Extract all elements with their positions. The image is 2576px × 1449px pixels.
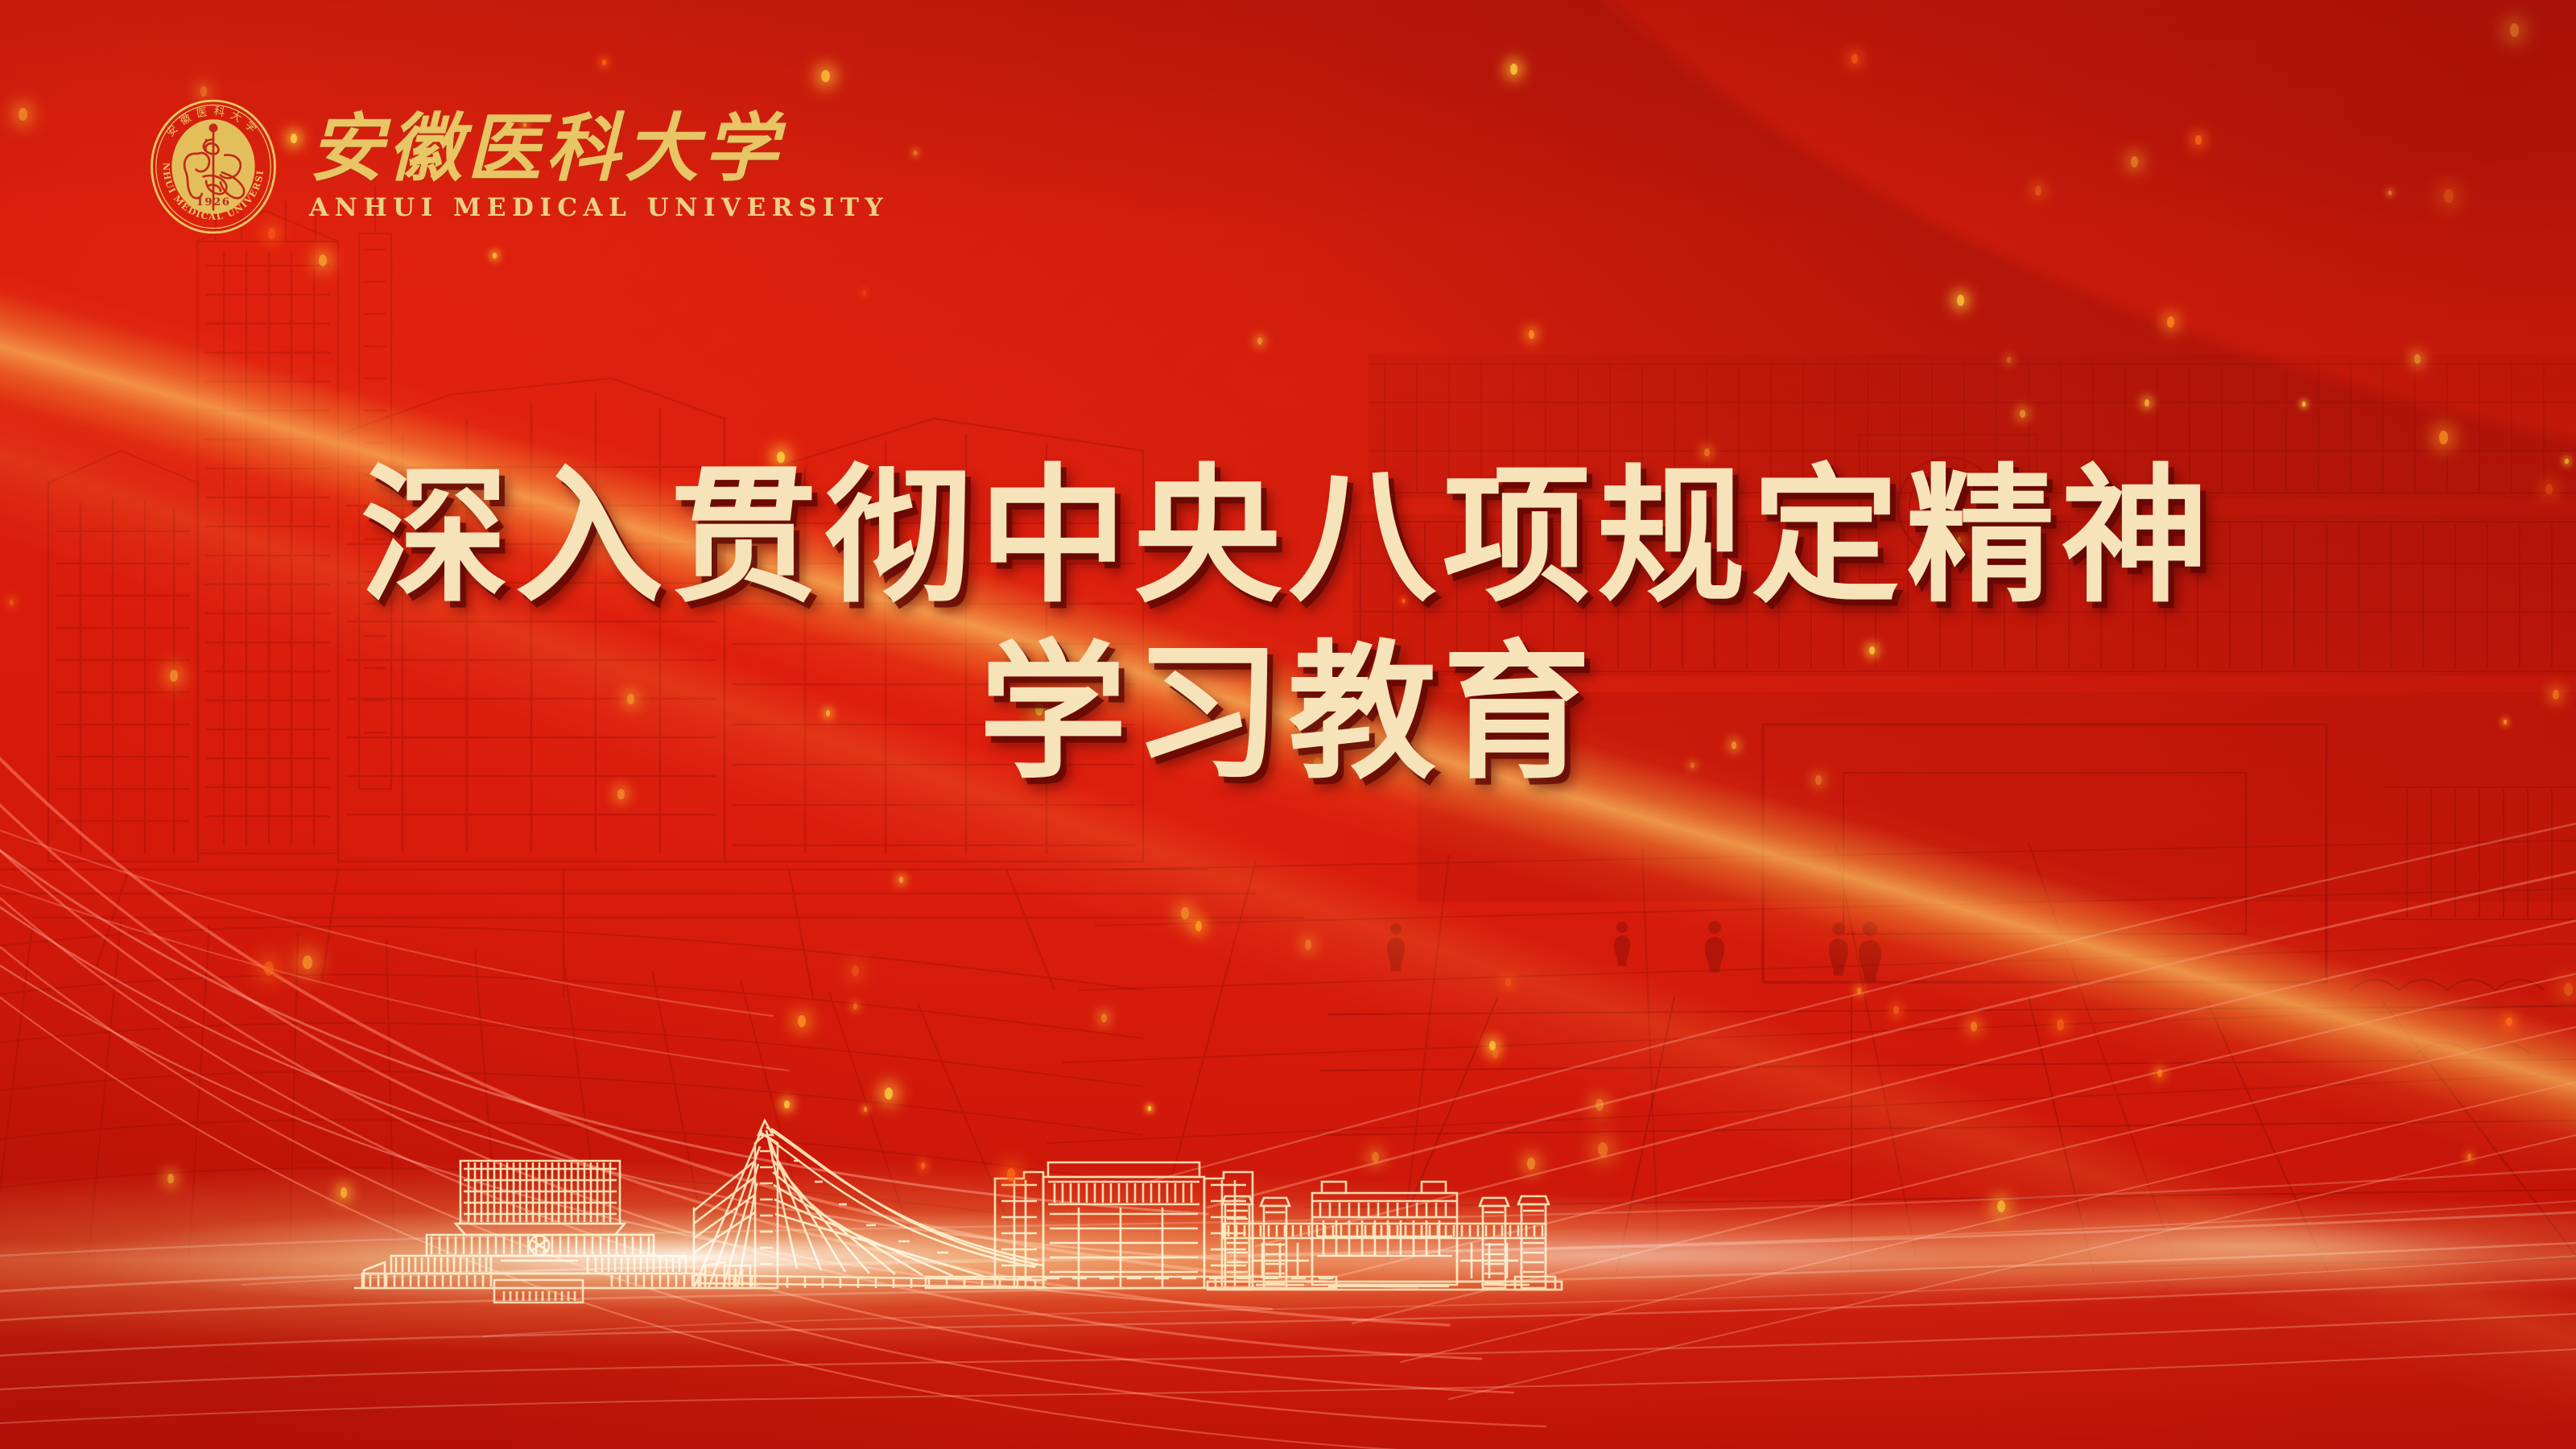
glow-particle [341, 1187, 347, 1197]
glow-particle [899, 877, 903, 883]
glow-particle [852, 965, 860, 977]
skyline-campus-gate-portico [1207, 1182, 1562, 1290]
glow-particle [1857, 988, 1861, 994]
title-line-2: 学习教育 [0, 627, 2576, 799]
glow-particle [2467, 1154, 2471, 1159]
glow-particle [863, 291, 866, 295]
glow-particle [19, 108, 27, 121]
glow-particle [1148, 1106, 1151, 1111]
glow-particle [2510, 23, 2519, 37]
university-name-block: 安徽医科大学 ANHUI MEDICAL UNIVERSITY [309, 111, 889, 222]
glow-particle [303, 956, 312, 970]
glow-particle [1305, 939, 1311, 950]
glow-particle [1527, 1158, 1535, 1170]
glow-particle [914, 151, 917, 155]
glow-particle [2145, 399, 2149, 407]
glow-particle [1101, 1013, 1107, 1022]
glow-particle [319, 254, 327, 266]
glow-particle [798, 1015, 806, 1027]
glow-particle [921, 1162, 925, 1169]
skyline-library-building [354, 1161, 765, 1302]
university-chinese-name: 安徽医科大学 [309, 111, 889, 187]
anhui-medical-university-emblem-icon: 安徽医科大学 ANHUI MEDICAL UNIVERSITY [142, 95, 285, 238]
glow-particle [784, 1100, 790, 1108]
glow-particle [853, 1003, 857, 1009]
glow-particle [1492, 1050, 1498, 1059]
glow-particle [1372, 1152, 1379, 1162]
glow-particle [1007, 1168, 1016, 1181]
skyline-hospital-tower-building [926, 1162, 1336, 1288]
glow-particle [864, 1107, 867, 1112]
glow-particle [1489, 1041, 1496, 1051]
glow-particle [1195, 921, 1203, 931]
glow-particle [1893, 1006, 1899, 1014]
glow-particle [2439, 431, 2448, 444]
glow-particle [2035, 186, 2041, 196]
glow-particle [1997, 1200, 2005, 1212]
title-line-1: 深入贯彻中央八项规定精神 [0, 451, 2576, 622]
glow-particle [885, 1088, 893, 1100]
glow-particle [2057, 1019, 2064, 1030]
glow-particle [2388, 191, 2392, 196]
skyline-cable-stayed-bridge [694, 1121, 1046, 1288]
glow-particle [2564, 983, 2573, 996]
glow-particle [2195, 135, 2202, 145]
glow-particle [1598, 1142, 1608, 1157]
glow-particle [2131, 156, 2139, 167]
glow-particle [1181, 907, 1189, 919]
university-english-name: ANHUI MEDICAL UNIVERSITY [309, 193, 889, 222]
glow-particle [167, 1174, 174, 1184]
glow-particle [1257, 337, 1262, 345]
poster-title: 深入贯彻中央八项规定精神 学习教育 [0, 451, 2576, 799]
glow-particle [2414, 354, 2421, 364]
glow-particle [2167, 316, 2174, 328]
university-logo: 安徽医科大学 ANHUI MEDICAL UNIVERSITY [142, 95, 889, 238]
glow-particle [821, 70, 829, 82]
glow-particle [1596, 1099, 1604, 1111]
svg-text:1926: 1926 [196, 196, 231, 208]
glow-particle [2506, 1018, 2512, 1026]
glow-particle [2157, 1069, 2163, 1077]
glow-particle [1851, 54, 1858, 64]
glow-particle [264, 961, 274, 976]
poster-canvas: 安徽医科大学 ANHUI MEDICAL UNIVERSITY [0, 0, 2576, 1449]
glow-particle [2444, 189, 2454, 203]
glow-particle [602, 60, 606, 66]
glow-particle [1510, 64, 1517, 75]
glow-particle [493, 253, 497, 258]
glow-particle [2007, 357, 2011, 363]
glow-particle [1971, 1022, 1977, 1031]
glow-particle [2020, 410, 2025, 418]
glow-particle [1529, 330, 1534, 339]
glow-particle [1957, 295, 1964, 305]
glow-particle [2302, 402, 2306, 407]
glow-particle [1505, 978, 1511, 987]
